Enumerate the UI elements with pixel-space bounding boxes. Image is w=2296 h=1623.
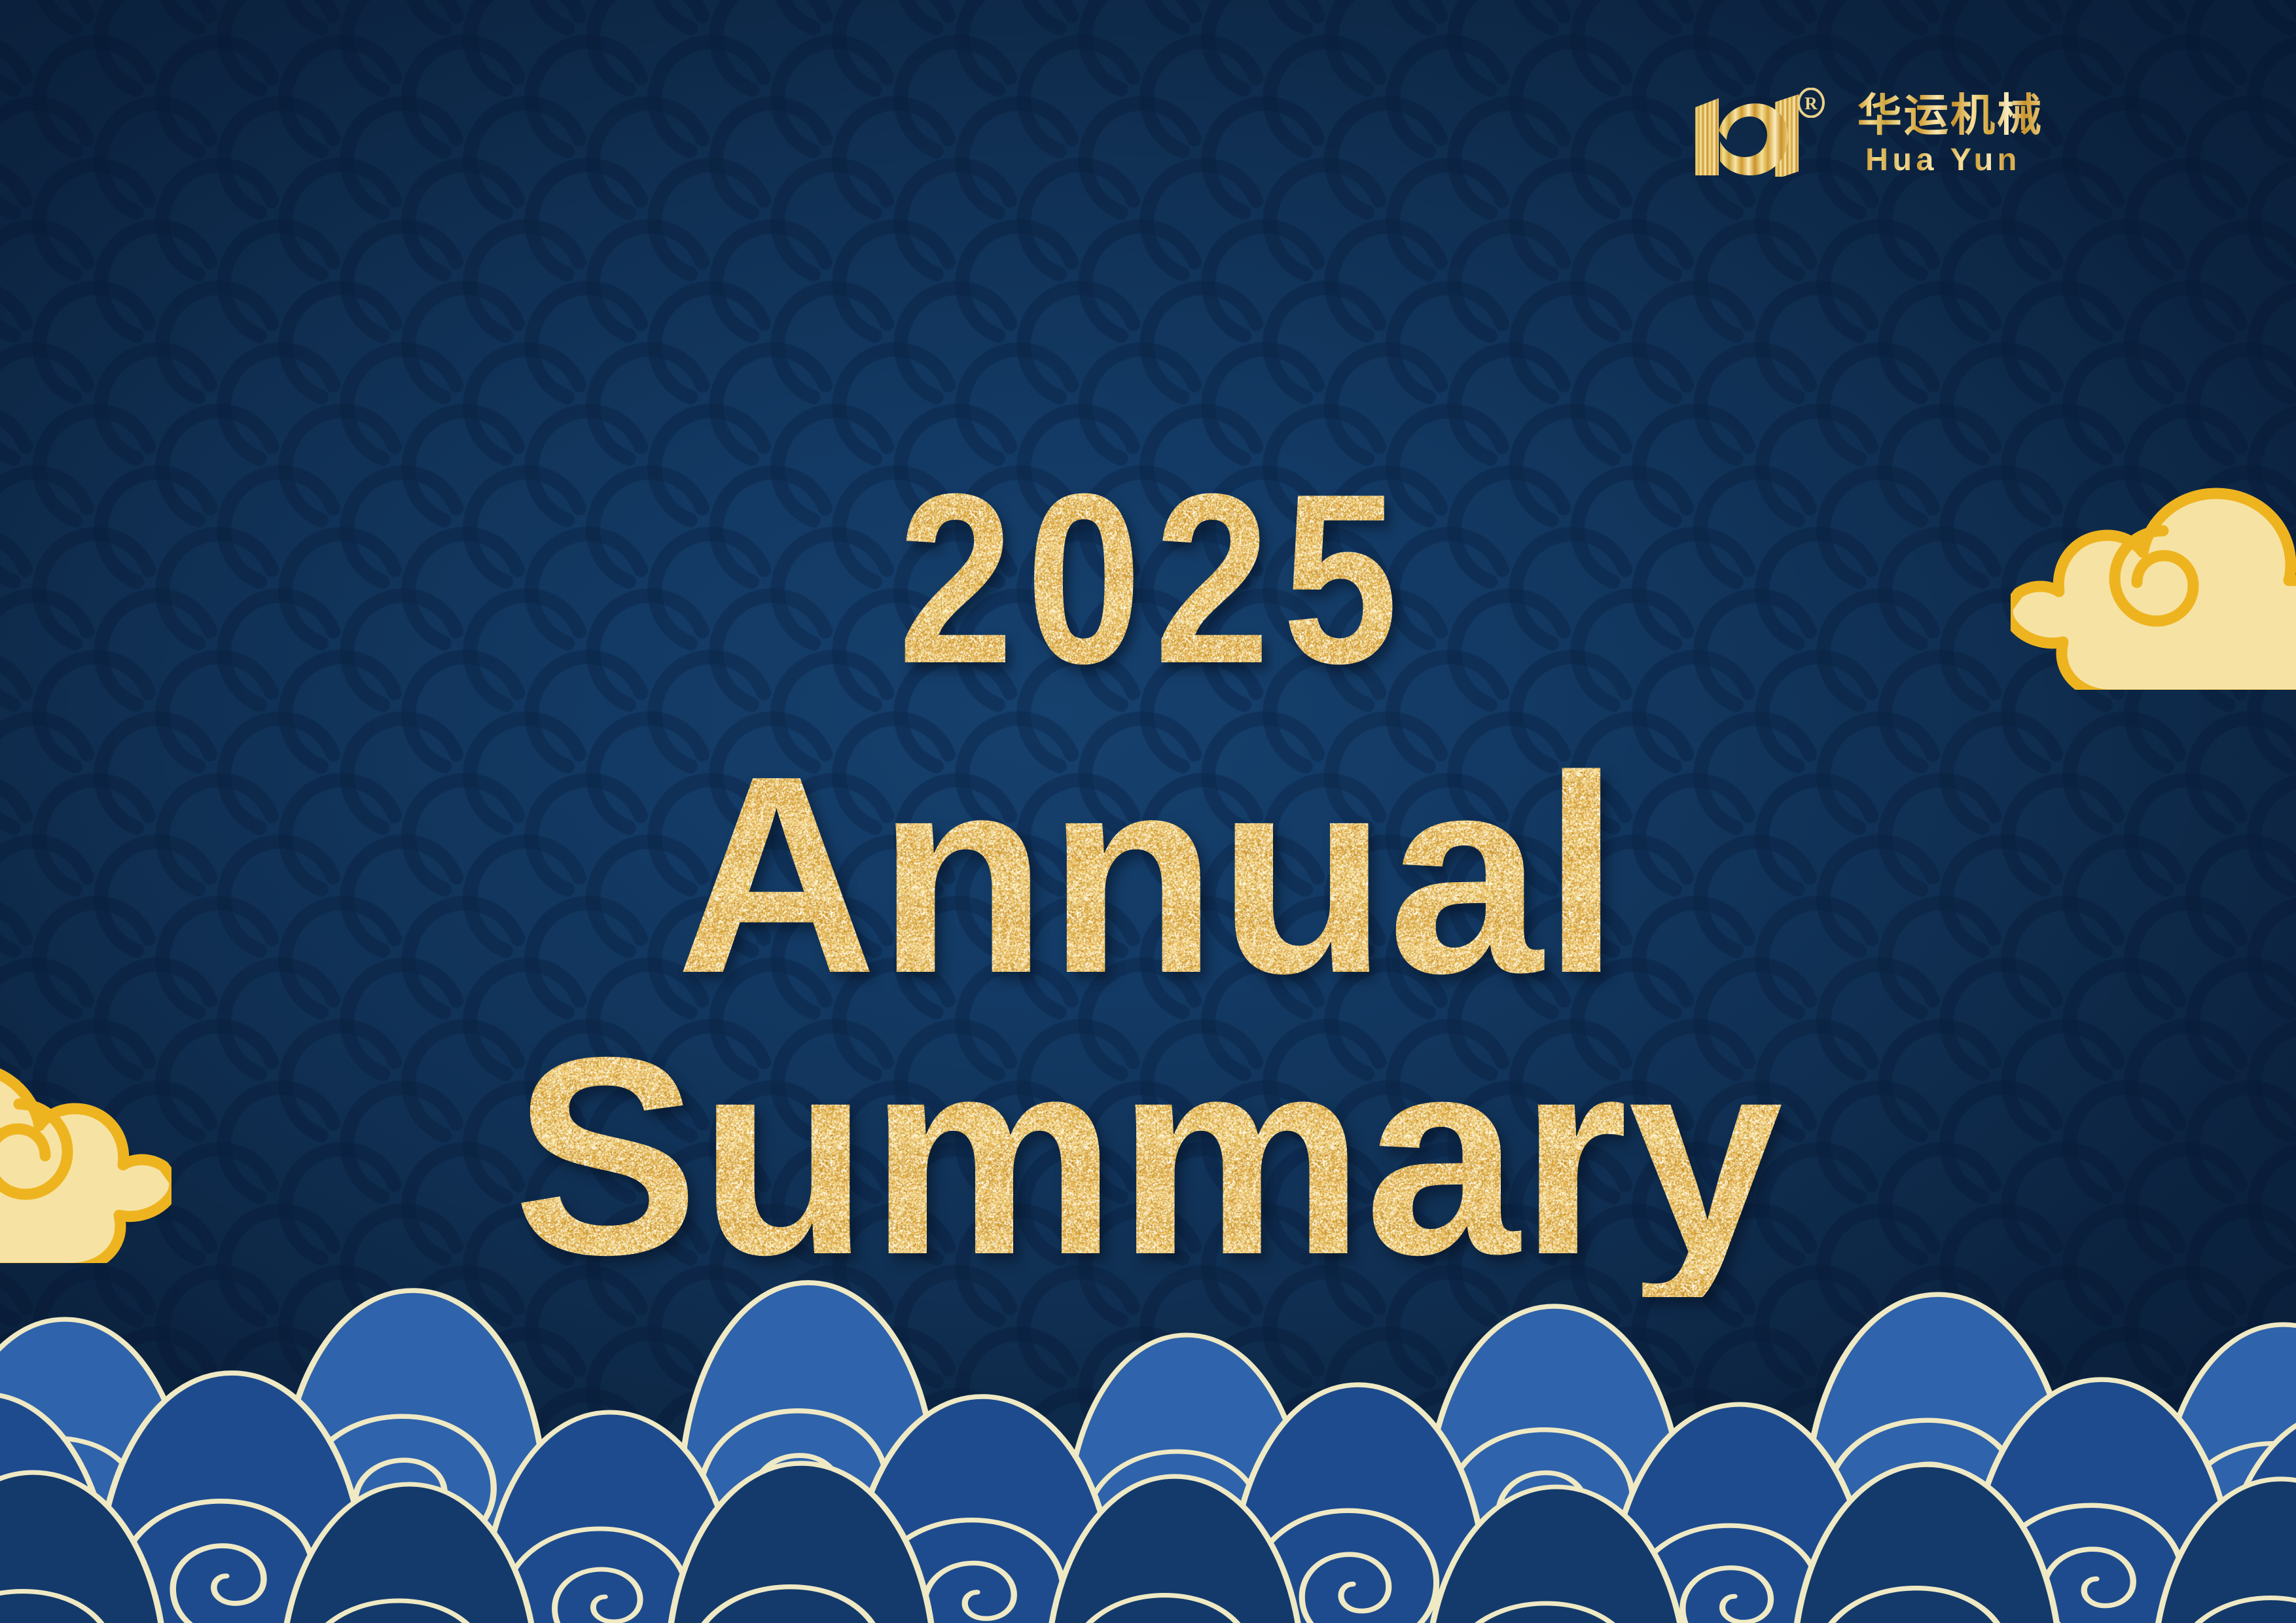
logo-company-name-cn: 华运机械 <box>1848 91 2189 138</box>
svg-text:华运机械: 华运机械 <box>1857 91 2043 138</box>
title-block: 2025 Annual Summary <box>0 458 2296 1297</box>
page-title: Annual Summary <box>12 734 2285 1297</box>
auspicious-wave-border <box>0 1257 2296 1623</box>
registered-trademark-icon: R <box>1796 88 1826 118</box>
company-logo: R 华运机械 Hua Yun <box>1693 92 2229 177</box>
logo-company-name-en: Hua Yun <box>1848 142 2189 177</box>
svg-text:Hua Yun: Hua Yun <box>1865 142 2021 177</box>
hy-monogram-icon: R <box>1693 92 1823 177</box>
logo-wordmark: 华运机械 Hua Yun <box>1848 91 2189 177</box>
title-slide: R 华运机械 Hua Yun 2025 Annual Summary <box>0 0 2296 1623</box>
slide-year: 2025 <box>161 458 2136 700</box>
svg-text:R: R <box>1804 94 1818 113</box>
